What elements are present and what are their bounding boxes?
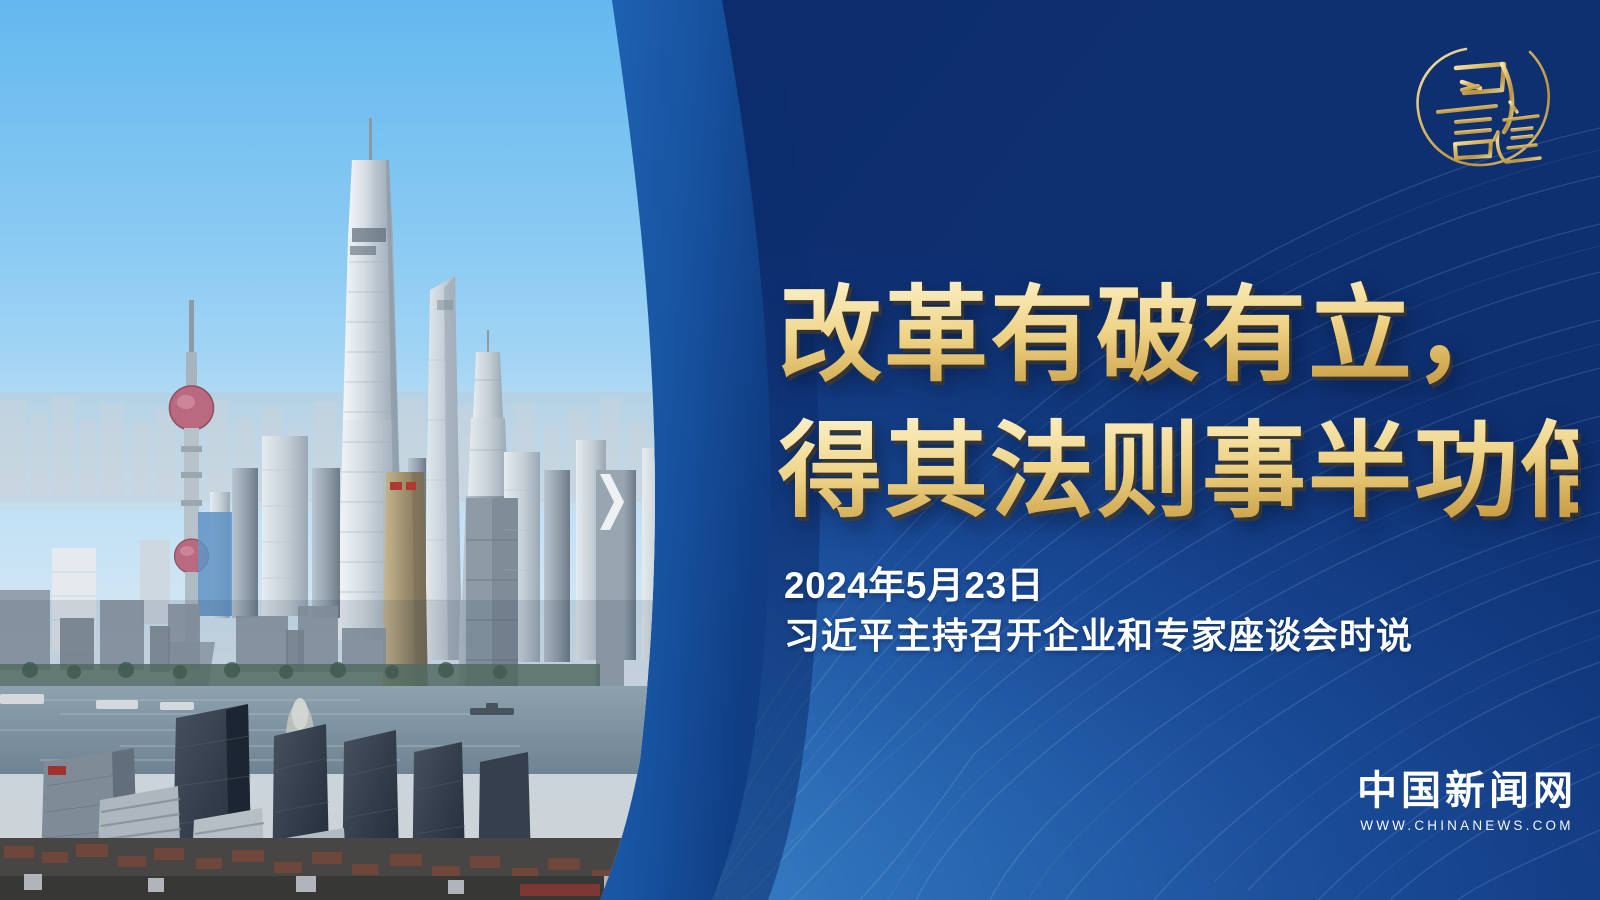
chinanews-watermark: 中国新闻网 WWW.CHINANEWS.COM — [1352, 768, 1582, 835]
subtitle-source: 习近平主持召开企业和专家座谈会时说 — [784, 612, 1413, 660]
poster-canvas: 改革有破有立， 得其法则事半功倍 2024年5月23日 习近平主持召开企业和专家… — [0, 0, 1600, 900]
xi-yan-dao-seal-logo — [1398, 28, 1566, 188]
subtitle-block: 2024年5月23日 习近平主持召开企业和专家座谈会时说 — [784, 562, 1413, 660]
headline-line-1: 改革有破有立， — [778, 272, 1578, 402]
headline-line-2: 得其法则事半功倍 — [778, 408, 1578, 538]
headline: 改革有破有立， 得其法则事半功倍 — [778, 272, 1578, 538]
watermark-name: 中国新闻网 — [1352, 768, 1582, 814]
watermark-url: WWW.CHINANEWS.COM — [1352, 817, 1582, 835]
subtitle-date: 2024年5月23日 — [784, 562, 1413, 609]
